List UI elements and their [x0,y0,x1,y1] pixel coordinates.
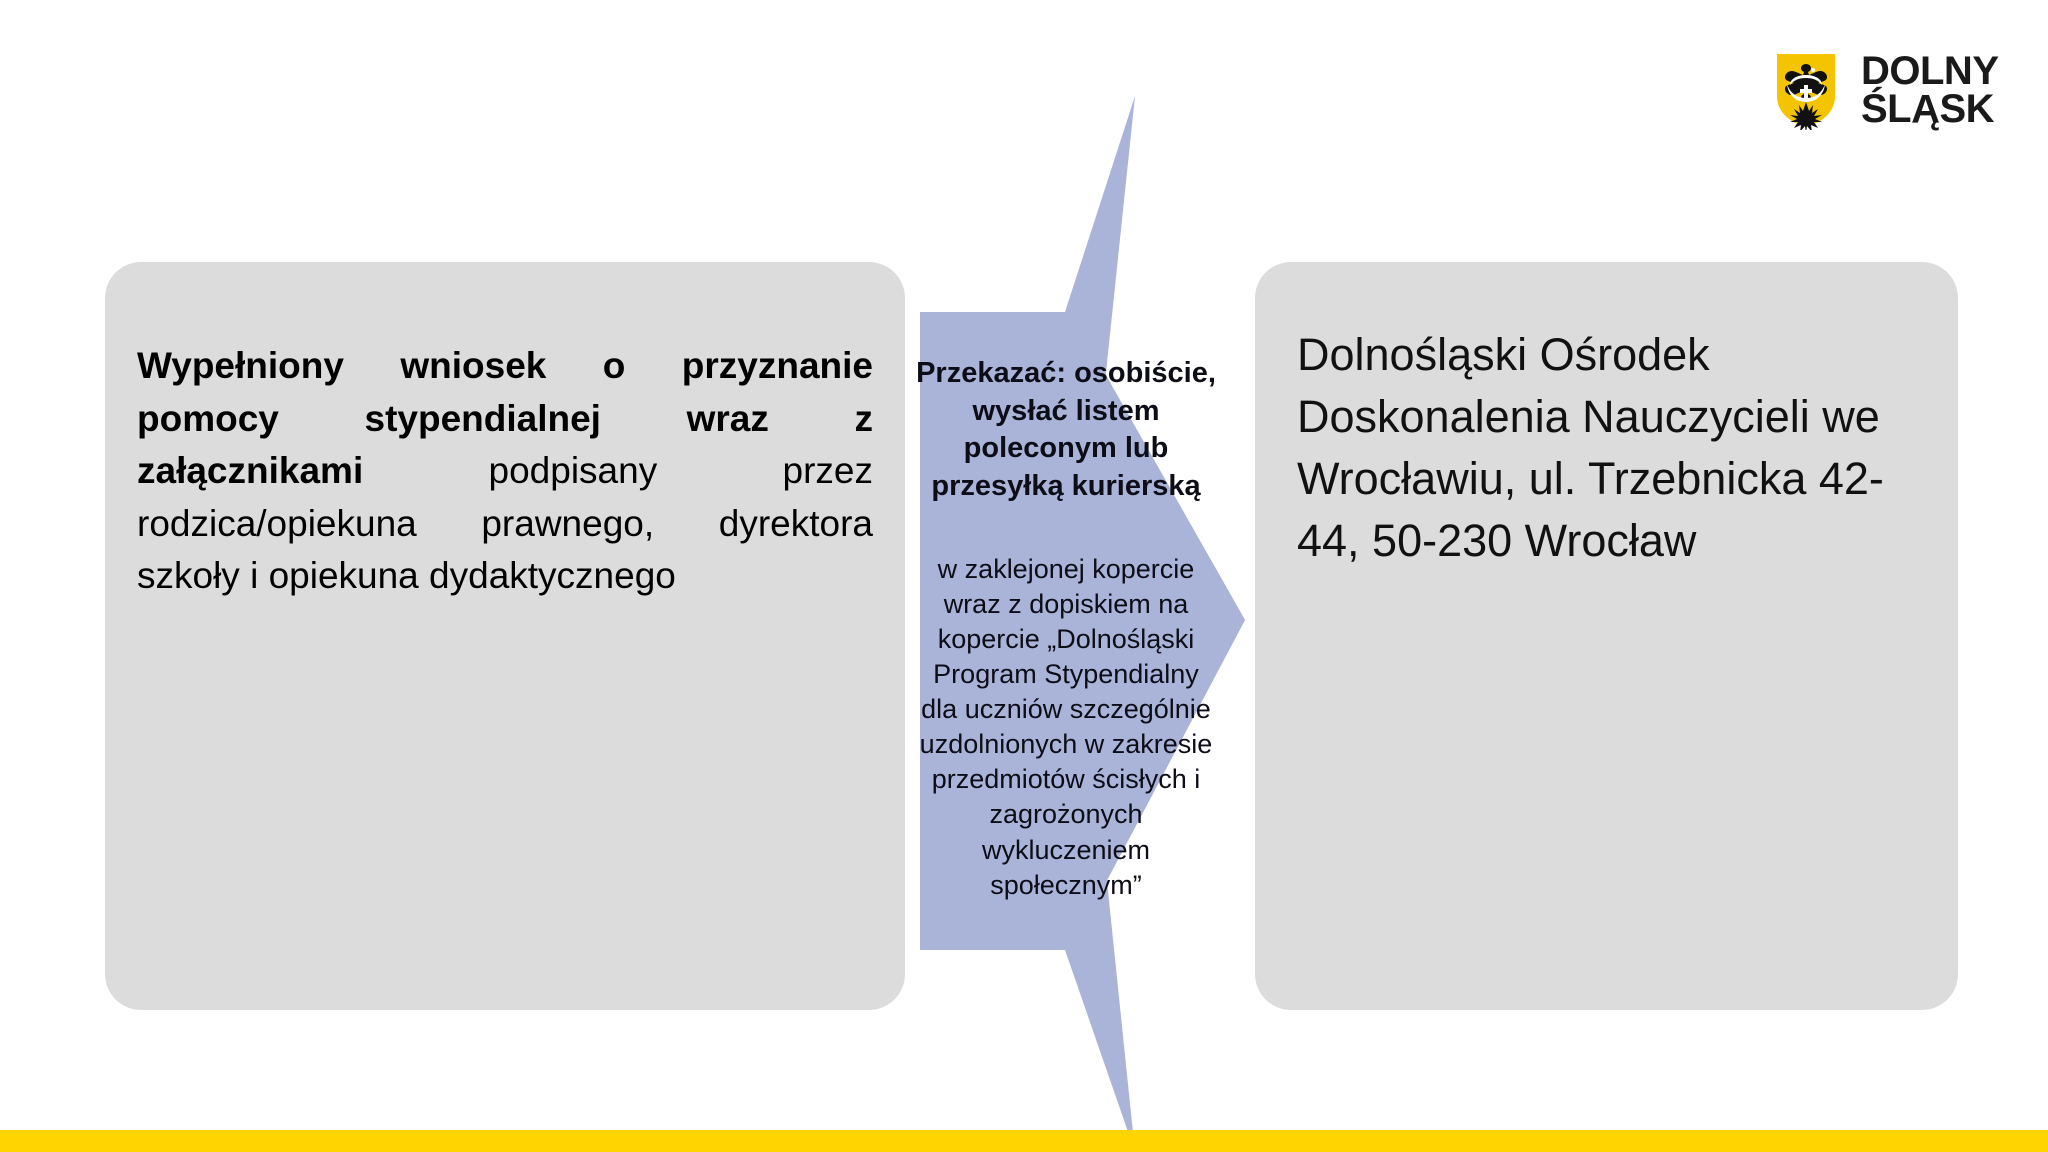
arrow-detail: w zaklejonej kopercie wraz z dopiskiem n… [916,552,1216,903]
recipient-address-box: Dolnośląski Ośrodek Doskonalenia Nauczyc… [1255,262,1958,1010]
application-document-box: Wypełniony wniosek o przyznanie pomocy s… [105,262,905,1010]
slide-canvas: DOLNY ŚLĄSK Przekazać: osobiście, wysłać… [0,0,2048,1152]
logo-line-2: ŚLĄSK [1861,90,1999,128]
coat-of-arms-shield-icon [1773,50,1839,130]
application-document-text: Wypełniony wniosek o przyznanie pomocy s… [105,340,905,603]
arrow-headline: Przekazać: osobiście, wysłać listem pole… [916,355,1216,506]
logo-wordmark: DOLNY ŚLĄSK [1861,52,1999,129]
logo-line-1: DOLNY [1861,52,1999,90]
arrow-text-block: Przekazać: osobiście, wysłać listem pole… [916,355,1216,903]
recipient-address-text: Dolnośląski Ośrodek Doskonalenia Nauczyc… [1263,324,1958,572]
dolny-slask-logo: DOLNY ŚLĄSK [1773,45,2003,135]
bottom-accent-band [0,1130,2048,1152]
